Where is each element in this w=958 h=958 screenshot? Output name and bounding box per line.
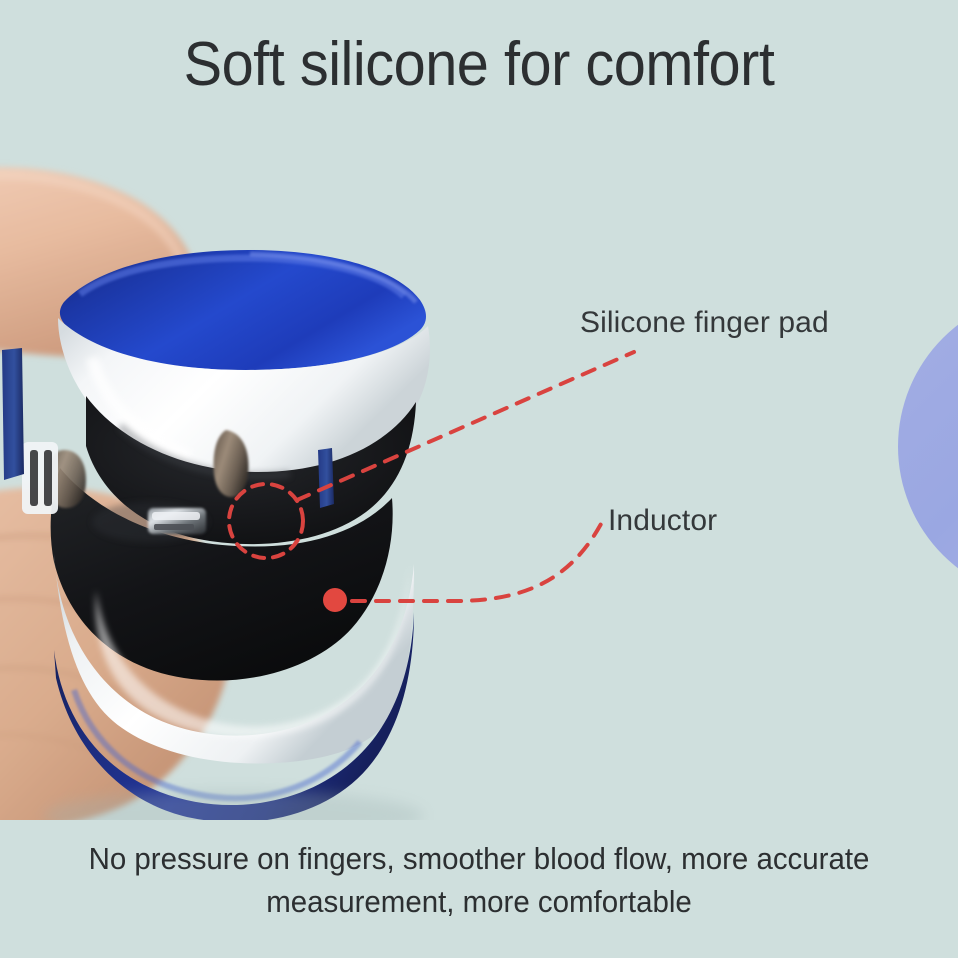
callout-label-silicone-finger-pad: Silicone finger pad (580, 306, 829, 340)
infographic-canvas: Soft silicone for comfort (0, 0, 958, 958)
page-title: Soft silicone for comfort (34, 34, 925, 96)
decorative-circle (898, 293, 958, 600)
page-caption: No pressure on fingers, smoother blood f… (81, 838, 877, 924)
product-photo (0, 150, 560, 820)
callout-label-inductor: Inductor (608, 504, 717, 538)
sensor-window (148, 508, 206, 534)
